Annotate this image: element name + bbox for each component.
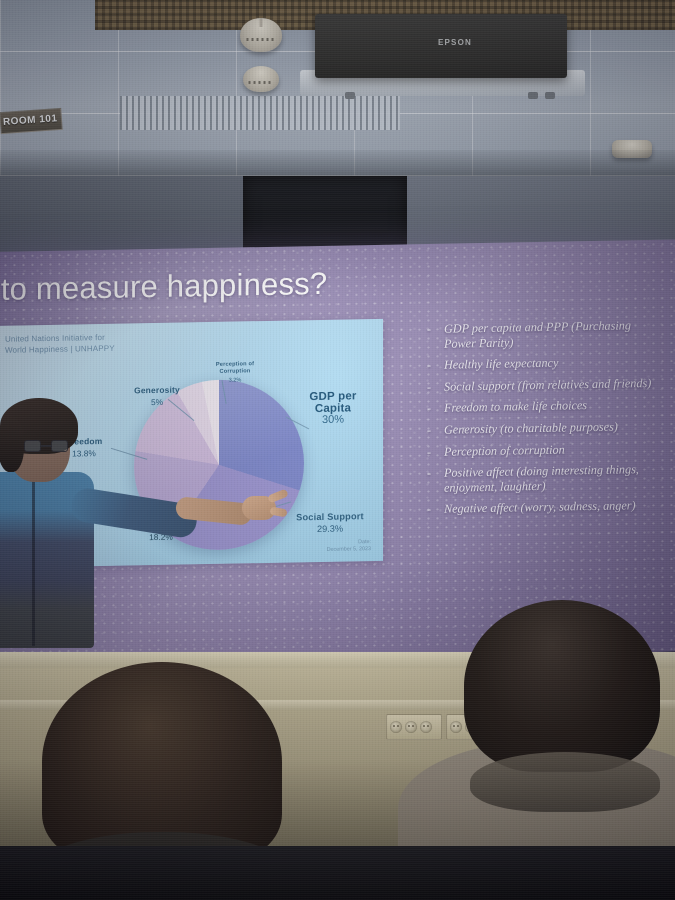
room-sign-label: ROOM 101 bbox=[3, 113, 58, 128]
pie-label-gdp: GDP per Capita 30% bbox=[296, 391, 370, 427]
org-line-2: World Happiness | UNHAPPY bbox=[5, 343, 115, 356]
power-outlet-plate-left bbox=[386, 714, 442, 740]
slide-bullet-item: -GDP per capita and PPP (Purchasing Powe… bbox=[424, 318, 656, 351]
slide-bullet-item: -Healthy life expectancy bbox=[424, 354, 656, 373]
ceiling-vent-grille bbox=[120, 96, 400, 130]
smoke-detector-icon bbox=[240, 18, 282, 52]
slide-bullet-item: -Generosity (to charitable purposes) bbox=[424, 419, 656, 438]
projector-foot-right bbox=[528, 92, 538, 99]
slide-bullet-text: Negative affect (worry, sadness, anger) bbox=[444, 499, 636, 517]
bullet-marker-icon: - bbox=[427, 466, 431, 481]
slide-bullet-text: Positive affect (doing interesting thing… bbox=[444, 462, 639, 494]
presenter-sideburn bbox=[0, 418, 24, 472]
detector-ring bbox=[246, 38, 275, 41]
ceiling: EPSON bbox=[0, 0, 675, 176]
projector-brand-label: EPSON bbox=[415, 38, 495, 47]
sprinkler-ring bbox=[248, 81, 273, 84]
presenter-shirt-placket bbox=[32, 478, 35, 646]
slide-bullet-text: Freedom to make life choices bbox=[444, 398, 587, 415]
lecture-room-photo: EPSON ROOM 101 ow to measure happiness? … bbox=[0, 0, 675, 900]
pie-label-corruption-percent: 3.2% bbox=[204, 375, 266, 388]
slide-bullet-text: GDP per capita and PPP (Purchasing Power… bbox=[444, 318, 631, 350]
pie-label-corruption: Perception of Corruption 3.2% bbox=[204, 361, 266, 388]
slide-bullet-item: -Perception of corruption bbox=[424, 440, 656, 459]
ceiling-shadow bbox=[0, 150, 675, 176]
slide-bullet-text: Generosity (to charitable purposes) bbox=[444, 419, 618, 436]
slide-bullet-item: -Negative affect (worry, sadness, anger) bbox=[424, 498, 656, 517]
sprinkler-head-icon bbox=[243, 66, 279, 92]
glasses-icon bbox=[24, 440, 68, 452]
power-socket-icon bbox=[420, 721, 432, 733]
presenter-pointing-hand bbox=[238, 486, 286, 526]
room-sign: ROOM 101 bbox=[0, 108, 63, 134]
audience-right-hood-collar bbox=[470, 752, 660, 812]
power-socket-icon bbox=[405, 721, 417, 733]
pie-label-generosity-name: Generosity bbox=[126, 384, 188, 397]
glasses-lens-right bbox=[51, 440, 68, 452]
pie-label-corruption-name: Perception of Corruption bbox=[204, 361, 266, 376]
glasses-lens-left bbox=[24, 440, 41, 452]
glasses-bridge bbox=[41, 445, 51, 447]
ceiling-speaker-box bbox=[243, 176, 407, 250]
slide-bullet-text: Healthy life expectancy bbox=[444, 356, 558, 372]
projector-foot-right-2 bbox=[545, 92, 555, 99]
slide-bullet-item: -Freedom to make life choices bbox=[424, 397, 656, 416]
audience-right-hair bbox=[464, 600, 660, 772]
bullet-marker-icon: - bbox=[427, 322, 431, 337]
detector-stem bbox=[260, 18, 263, 27]
slide-bullet-item: -Social support (from relatives and frie… bbox=[424, 376, 656, 395]
pie-label-social-name: Social Support bbox=[294, 511, 366, 524]
slide-bullet-item: -Positive affect (doing interesting thin… bbox=[424, 462, 656, 495]
chart-date-value: December 5, 2023 bbox=[327, 546, 371, 554]
bullet-marker-icon: - bbox=[427, 380, 431, 395]
bullet-marker-icon: - bbox=[427, 445, 431, 460]
pie-label-gdp-name: GDP per Capita bbox=[296, 391, 370, 415]
chart-date-caption: Date: December 5, 2023 bbox=[327, 539, 371, 554]
bullet-marker-icon: - bbox=[427, 502, 431, 517]
chair-back-row bbox=[0, 846, 675, 900]
pie-label-social: Social Support 29.3% bbox=[294, 511, 366, 535]
bullet-marker-icon: - bbox=[427, 401, 431, 416]
slide-bullet-list: -GDP per capita and PPP (Purchasing Powe… bbox=[424, 318, 656, 524]
slide-bullet-text: Perception of corruption bbox=[444, 442, 565, 458]
projector-foot-left bbox=[345, 92, 355, 99]
bullet-marker-icon: - bbox=[427, 358, 431, 373]
pie-label-social-percent: 29.3% bbox=[294, 523, 366, 536]
bullet-marker-icon: - bbox=[427, 423, 431, 438]
pie-label-gdp-percent: 30% bbox=[296, 414, 370, 427]
organization-name: United Nations Initiative for World Happ… bbox=[5, 333, 115, 356]
power-socket-icon bbox=[390, 721, 402, 733]
slide-bullet-text: Social support (from relatives and frien… bbox=[444, 376, 651, 394]
presenter-finger bbox=[267, 489, 289, 504]
